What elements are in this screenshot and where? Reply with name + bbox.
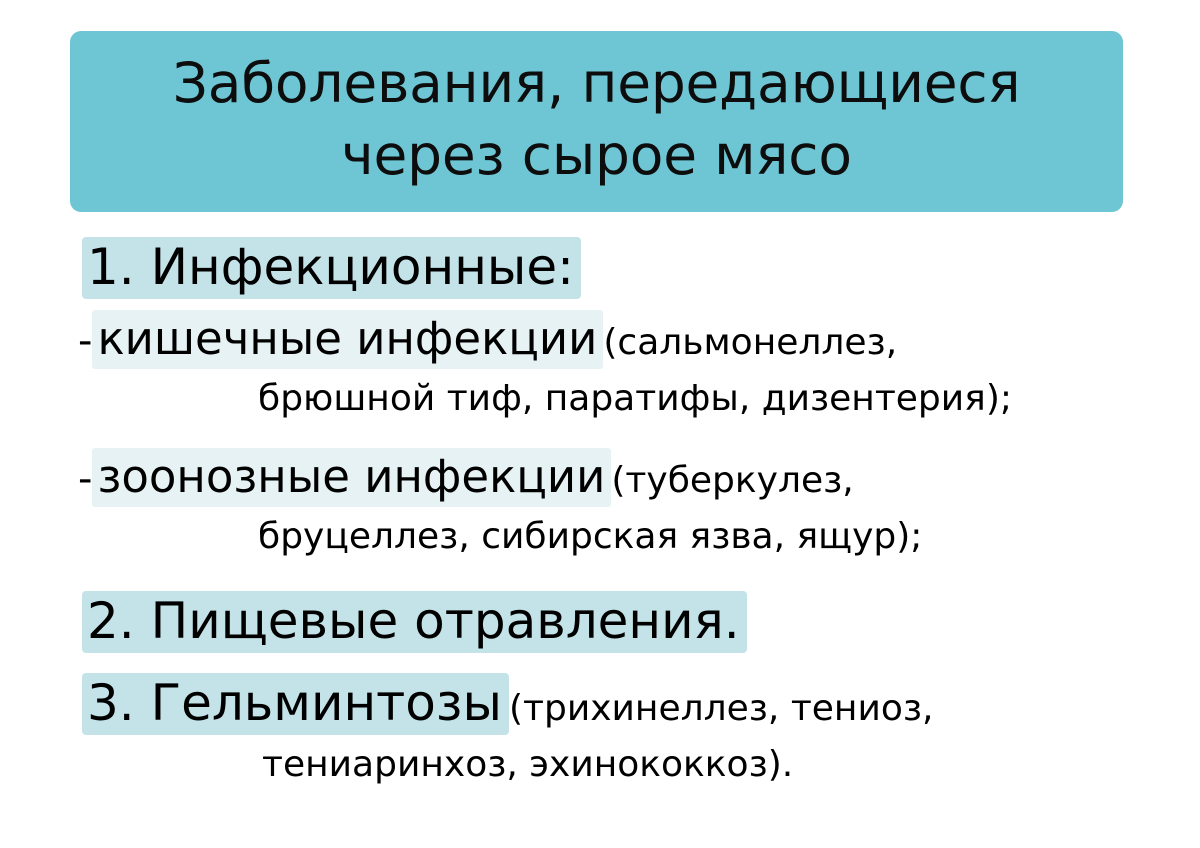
- slide-title-line-1: Заболевания, передающиеся: [173, 47, 1021, 119]
- heading-helminthiases: 3. Гельминтозы: [82, 673, 509, 735]
- term-intestinal-infections: кишечные инфекции: [92, 310, 603, 369]
- helminthiases-first-line: 3. Гельминтозы(трихинеллез, тениоз,: [82, 672, 1200, 738]
- slide-title-line-2: через сырое мясо: [341, 119, 852, 191]
- slide-canvas: Заболевания, передающиеся через сырое мя…: [0, 0, 1200, 848]
- slide-body: 1. Инфекционные: -кишечные инфекции(саль…: [0, 236, 1200, 792]
- continuation-zoonotic-infections: бруцеллез, сибирская язва, ящур);: [78, 510, 1200, 564]
- term-zoonotic-infections: зоонозные инфекции: [92, 448, 611, 507]
- heading-food-poisoning: 2. Пищевые отравления.: [82, 591, 747, 653]
- bullet-dash-icon: -: [78, 318, 92, 364]
- slide-title-banner: Заболевания, передающиеся через сырое мя…: [70, 31, 1123, 212]
- sub-item-intestinal-first-line: -кишечные инфекции(сальмонеллез,: [78, 310, 1200, 372]
- detail-zoonotic-infections: (туберкулез,: [611, 460, 853, 501]
- list-item-infectious: 1. Инфекционные:: [0, 236, 1200, 298]
- sub-item-zoonotic-infections: -зоонозные инфекции(туберкулез, бруцелле…: [0, 448, 1200, 564]
- detail-intestinal-infections: (сальмонеллез,: [603, 322, 897, 363]
- heading-infectious: 1. Инфекционные:: [82, 237, 581, 299]
- sub-item-intestinal-infections: -кишечные инфекции(сальмонеллез, брюшной…: [0, 310, 1200, 426]
- bullet-dash-icon: -: [78, 456, 92, 502]
- detail-helminthiases: (трихинеллез, тениоз,: [509, 688, 934, 729]
- list-item-helminthiases: 3. Гельминтозы(трихинеллез, тениоз, тени…: [0, 672, 1200, 792]
- continuation-intestinal-infections: брюшной тиф, паратифы, дизентерия);: [78, 372, 1200, 426]
- list-item-food-poisoning: 2. Пищевые отравления.: [0, 590, 1200, 652]
- sub-item-zoonotic-first-line: -зоонозные инфекции(туберкулез,: [78, 448, 1200, 510]
- continuation-helminthiases: тениаринхоз, эхинококкоз).: [82, 738, 1200, 792]
